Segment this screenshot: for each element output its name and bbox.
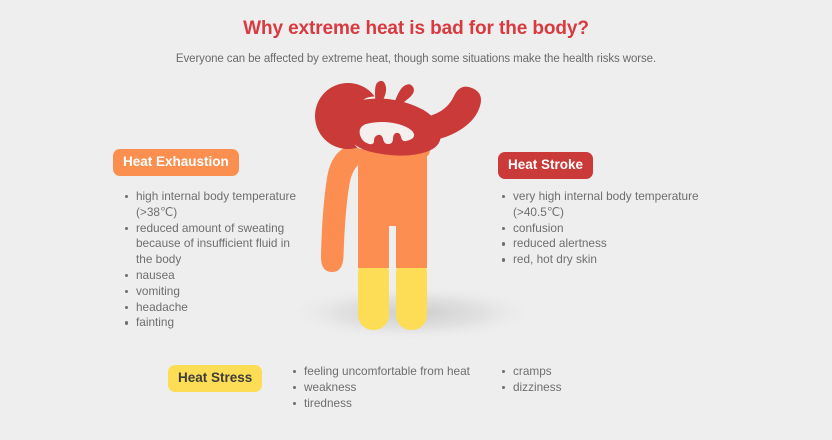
list-item: cramps	[501, 364, 631, 380]
infographic-canvas: Why extreme heat is bad for the body? Ev…	[0, 0, 832, 440]
list-item: reduced amount of sweating because of in…	[124, 221, 299, 268]
list-item: confusion	[501, 221, 736, 237]
list-item: weakness	[292, 380, 502, 396]
list-item: tiredness	[292, 396, 502, 412]
page-subtitle: Everyone can be affected by extreme heat…	[0, 53, 832, 65]
page-title: Why extreme heat is bad for the body?	[0, 18, 832, 40]
list-item: red, hot dry skin	[501, 252, 736, 268]
symptom-list-heat-exhaustion: high internal body temperature (>38℃) re…	[124, 189, 299, 331]
symptom-list-heat-stroke: very high internal body temperature (>40…	[501, 189, 736, 268]
list-item: vomiting	[124, 284, 299, 300]
list-item: reduced alertness	[501, 236, 736, 252]
list-item: dizziness	[501, 380, 631, 396]
list-item: very high internal body temperature (>40…	[501, 189, 736, 221]
list-item: feeling uncomfortable from heat	[292, 364, 502, 380]
badge-heat-stroke[interactable]: Heat Stroke	[498, 152, 593, 179]
list-item: headache	[124, 300, 299, 316]
list-item: fainting	[124, 315, 299, 331]
symptom-list-heat-stress-column-1: feeling uncomfortable from heat weakness…	[292, 364, 502, 411]
list-item: high internal body temperature (>38℃)	[124, 189, 299, 221]
list-item: nausea	[124, 268, 299, 284]
badge-heat-exhaustion[interactable]: Heat Exhaustion	[113, 149, 239, 176]
badge-heat-stress[interactable]: Heat Stress	[168, 365, 262, 392]
symptom-list-heat-stress-column-2: cramps dizziness	[501, 364, 631, 396]
